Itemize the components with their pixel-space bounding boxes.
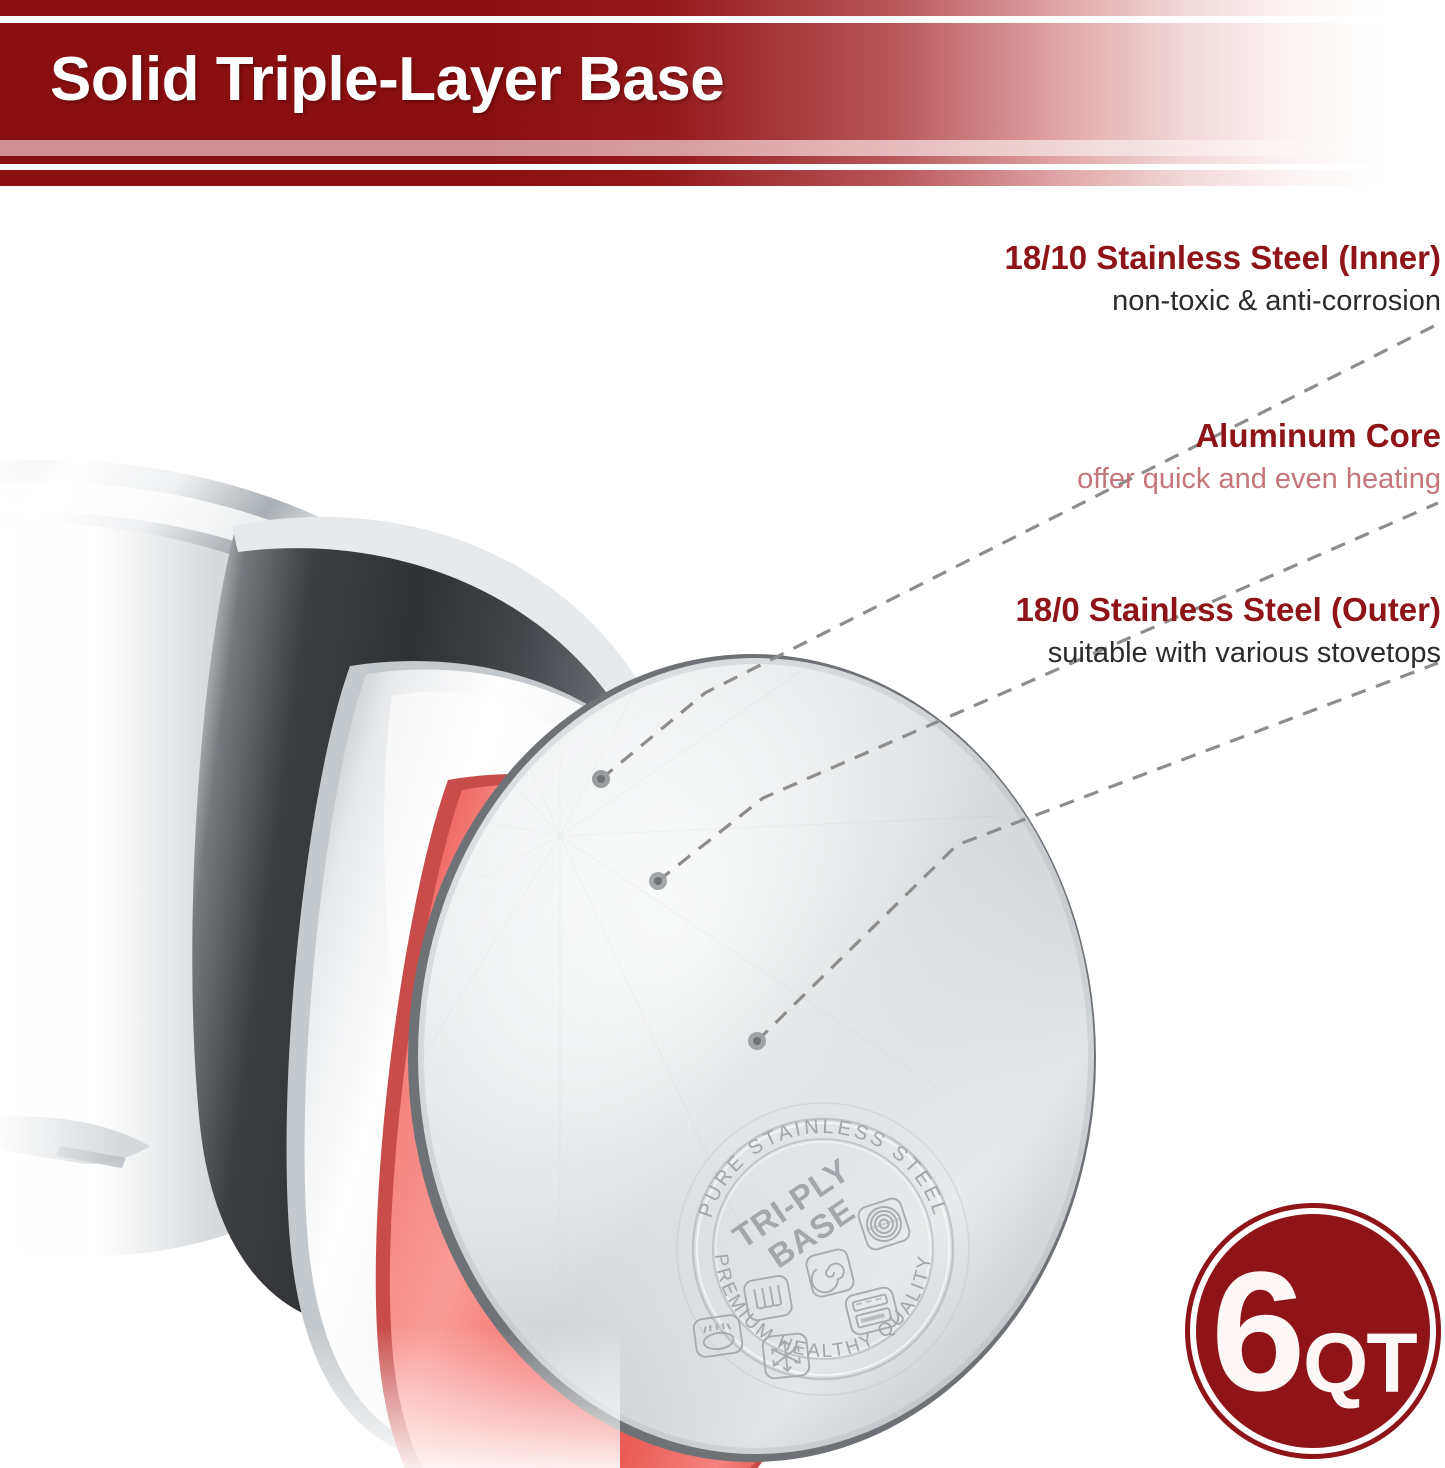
callout-title: 18/0 Stainless Steel (Outer) bbox=[1015, 592, 1441, 629]
banner-stripe-1 bbox=[0, 0, 1445, 16]
header-banner: Solid Triple-Layer Base bbox=[0, 0, 1445, 196]
fade-left bbox=[0, 196, 120, 1468]
callout-title: Aluminum Core bbox=[1077, 418, 1441, 455]
banner-stripe-pink bbox=[0, 140, 1445, 156]
banner-stripe-3 bbox=[0, 170, 1445, 186]
banner-gap-3 bbox=[0, 186, 1445, 196]
callout-subtitle: offer quick and even heating bbox=[1077, 461, 1441, 497]
callout-subtitle: suitable with various stovetops bbox=[1015, 635, 1441, 671]
callout-subtitle: non-toxic & anti-corrosion bbox=[1004, 283, 1441, 319]
fade-bottom bbox=[0, 1326, 620, 1468]
banner-gap-1 bbox=[0, 16, 1445, 23]
badge-capacity-unit: QT bbox=[1303, 1321, 1416, 1405]
page-title: Solid Triple-Layer Base bbox=[50, 44, 724, 115]
callout-aluminum-core: Aluminum Core offer quick and even heati… bbox=[1077, 418, 1441, 497]
callout-outer-layer: 18/0 Stainless Steel (Outer) suitable wi… bbox=[1015, 592, 1441, 671]
badge-capacity-number: 6 bbox=[1211, 1247, 1302, 1417]
capacity-badge: 6 QT bbox=[1185, 1203, 1441, 1459]
banner-stripe-2 bbox=[0, 156, 1445, 164]
callout-inner-layer: 18/10 Stainless Steel (Inner) non-toxic … bbox=[1004, 240, 1441, 319]
callout-title: 18/10 Stainless Steel (Inner) bbox=[1004, 240, 1441, 277]
